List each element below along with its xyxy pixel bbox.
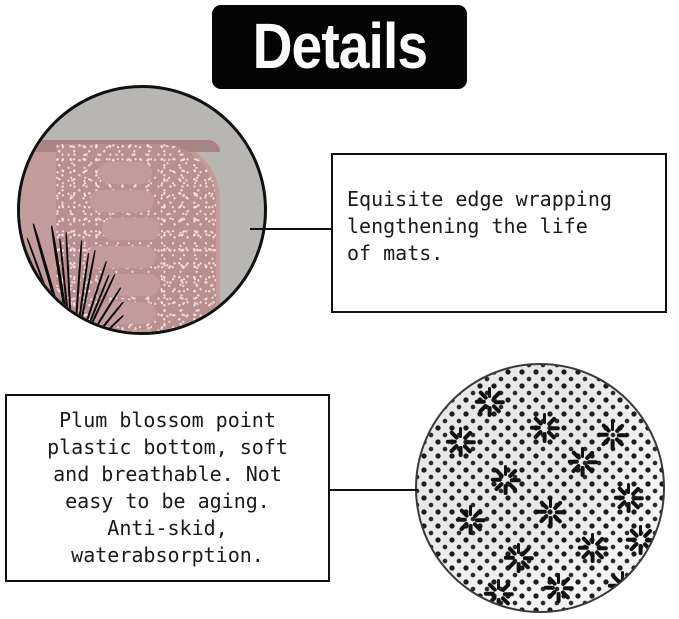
- blossom-petal: [549, 497, 553, 508]
- blossom-petal: [642, 528, 652, 538]
- edge-wrapping-callout-text: Equisite edge wrapping lengthening the l…: [347, 186, 651, 267]
- plum-blossom-motif: [535, 497, 565, 527]
- blossom-petal: [557, 573, 561, 584]
- plum-blossom-connector-line: [328, 489, 418, 491]
- blossom-petal: [580, 536, 590, 546]
- blossom-petal: [630, 500, 640, 510]
- blossom-petal: [517, 543, 521, 554]
- blossom-petal: [557, 592, 561, 603]
- plum-blossom-motif: [503, 543, 533, 573]
- blossom-petal: [567, 460, 578, 464]
- blossom-petal: [506, 560, 516, 570]
- plum-blossom-motif: [625, 525, 655, 555]
- blossom-petal: [504, 484, 508, 495]
- plum-blossom-motif: [483, 579, 513, 609]
- edge-wrapping-connector-line: [250, 228, 333, 230]
- blossom-petal: [552, 500, 562, 510]
- blossom-petal: [630, 486, 640, 496]
- blossom-petal: [509, 478, 520, 482]
- blossom-petal: [535, 510, 546, 514]
- blossom-petal: [614, 437, 624, 447]
- blossom-petal: [628, 528, 638, 538]
- blossom-petal: [610, 574, 620, 584]
- blossom-petal: [472, 508, 482, 518]
- blossom-petal: [490, 478, 501, 482]
- plum-blossom-motif: [607, 571, 637, 601]
- script-monogram: ℏ: [17, 278, 50, 326]
- blossom-petal: [616, 433, 627, 437]
- blossom-petal: [486, 596, 496, 606]
- blossom-petal: [493, 400, 504, 404]
- blossom-petal: [455, 518, 466, 522]
- blossom-petal: [584, 464, 594, 474]
- blossom-petal: [600, 423, 610, 433]
- blossom-petal: [586, 460, 597, 464]
- blossom-petal: [477, 390, 487, 400]
- blossom-petal: [491, 390, 501, 400]
- blossom-petal: [546, 416, 556, 426]
- blossom-petal: [632, 496, 643, 500]
- plum-blossom-motif: [455, 505, 485, 535]
- blossom-petal: [581, 447, 585, 458]
- blossom-petal: [548, 426, 559, 430]
- blossom-petal: [570, 450, 580, 460]
- blossom-petal: [500, 582, 510, 592]
- plum-blossom-motif: [567, 447, 597, 477]
- blossom-petal: [607, 584, 618, 588]
- blossom-petal: [543, 413, 547, 424]
- blossom-petal: [500, 596, 510, 606]
- blossom-petal: [462, 430, 472, 440]
- blossom-petal: [591, 533, 595, 544]
- plum-blossom-motif: [474, 387, 504, 417]
- blossom-petal: [610, 588, 620, 598]
- blossom-petal: [445, 440, 456, 444]
- blossom-petal: [611, 439, 615, 450]
- blossom-petal: [491, 404, 501, 414]
- antiskid-backing-photo: [415, 363, 665, 613]
- blossom-petal: [459, 446, 463, 457]
- blossom-petal: [624, 574, 634, 584]
- blossom-petal: [458, 508, 468, 518]
- blossom-petal: [469, 505, 473, 516]
- blossom-petal: [581, 466, 585, 477]
- blossom-petal: [562, 586, 573, 590]
- blossom-petal: [448, 444, 458, 454]
- blossom-petal: [626, 584, 637, 588]
- blossom-petal: [584, 450, 594, 460]
- blossom-petal: [529, 426, 540, 430]
- blossom-petal: [538, 514, 548, 524]
- blossom-petal: [543, 586, 554, 590]
- blossom-petal: [624, 588, 634, 598]
- plum-blossom-motif: [543, 573, 573, 603]
- blossom-petal: [616, 500, 626, 510]
- blossom-petal: [462, 444, 472, 454]
- blossom-petal: [486, 582, 496, 592]
- blossom-petal: [560, 590, 570, 600]
- blossom-petal: [616, 486, 626, 496]
- blossom-petal: [458, 522, 468, 532]
- mat-edge-photo: ℏ: [17, 85, 267, 335]
- blossom-petal: [464, 440, 475, 444]
- blossom-petal: [621, 571, 625, 582]
- blossom-petal: [538, 500, 548, 510]
- blossom-petal: [543, 432, 547, 443]
- blossom-petal: [507, 468, 517, 478]
- details-banner: Details: [212, 5, 467, 89]
- blossom-petal: [560, 576, 570, 586]
- blossom-petal: [549, 516, 553, 527]
- blossom-petal: [532, 416, 542, 426]
- blossom-petal: [580, 550, 590, 560]
- plum-blossom-callout: Plum blossom point plastic bottom, soft …: [5, 394, 330, 582]
- blossom-petal: [448, 430, 458, 440]
- blossom-petal: [628, 542, 638, 552]
- blossom-petal: [600, 437, 610, 447]
- blossom-petal: [554, 510, 565, 514]
- plum-blossom-motif: [445, 427, 475, 457]
- blossom-petal: [611, 420, 615, 431]
- blossom-petal: [506, 546, 516, 556]
- blossom-petal: [477, 404, 487, 414]
- blossom-petal: [546, 430, 556, 440]
- blossom-petal: [520, 546, 530, 556]
- blossom-petal: [577, 546, 588, 550]
- blossom-petal: [469, 524, 473, 535]
- plum-blossom-motif: [613, 483, 643, 513]
- blossom-petal: [639, 525, 643, 536]
- blossom-petal: [642, 542, 652, 552]
- blossom-petal: [517, 562, 521, 573]
- blossom-petal: [597, 433, 608, 437]
- blossom-petal: [546, 576, 556, 586]
- blossom-petal: [546, 590, 556, 600]
- blossom-petal: [497, 598, 501, 609]
- eyelash-pattern: [38, 144, 128, 335]
- blossom-petal: [493, 468, 503, 478]
- blossom-petal: [570, 464, 580, 474]
- blossom-petal: [493, 482, 503, 492]
- blossom-petal: [614, 423, 624, 433]
- blossom-petal: [591, 552, 595, 563]
- blossom-petal: [459, 427, 463, 438]
- blossom-petal: [504, 465, 508, 476]
- blossom-petal: [522, 556, 533, 560]
- blossom-petal: [483, 592, 494, 596]
- edge-wrapping-callout: Equisite edge wrapping lengthening the l…: [331, 153, 667, 313]
- blossom-petal: [507, 482, 517, 492]
- blossom-petal: [613, 496, 624, 500]
- blossom-petal: [520, 560, 530, 570]
- blossom-petal: [488, 387, 492, 398]
- plum-blossom-motif: [490, 465, 520, 495]
- blossom-petal: [594, 550, 604, 560]
- blossom-petal: [502, 592, 513, 596]
- blossom-petal: [488, 406, 492, 417]
- blossom-petal: [644, 538, 655, 542]
- blossom-petal: [639, 544, 643, 555]
- plum-blossom-motif: [577, 533, 607, 563]
- blossom-petal: [552, 514, 562, 524]
- blossom-petal: [474, 400, 485, 404]
- blossom-petal: [472, 522, 482, 532]
- blossom-petal: [474, 518, 485, 522]
- plum-blossom-motif: [597, 420, 627, 450]
- blossom-petal: [532, 430, 542, 440]
- blossom-petal: [627, 502, 631, 513]
- plum-blossom-callout-text: Plum blossom point plastic bottom, soft …: [17, 407, 318, 569]
- blossom-petal: [497, 579, 501, 590]
- blossom-petal: [594, 536, 604, 546]
- blossom-petal: [625, 538, 636, 542]
- blossom-petal: [503, 556, 514, 560]
- blossom-petal: [627, 483, 631, 494]
- blossom-petal: [596, 546, 607, 550]
- plum-blossom-motif: [529, 413, 559, 443]
- page-title: Details: [252, 15, 427, 79]
- blossom-petal: [621, 590, 625, 601]
